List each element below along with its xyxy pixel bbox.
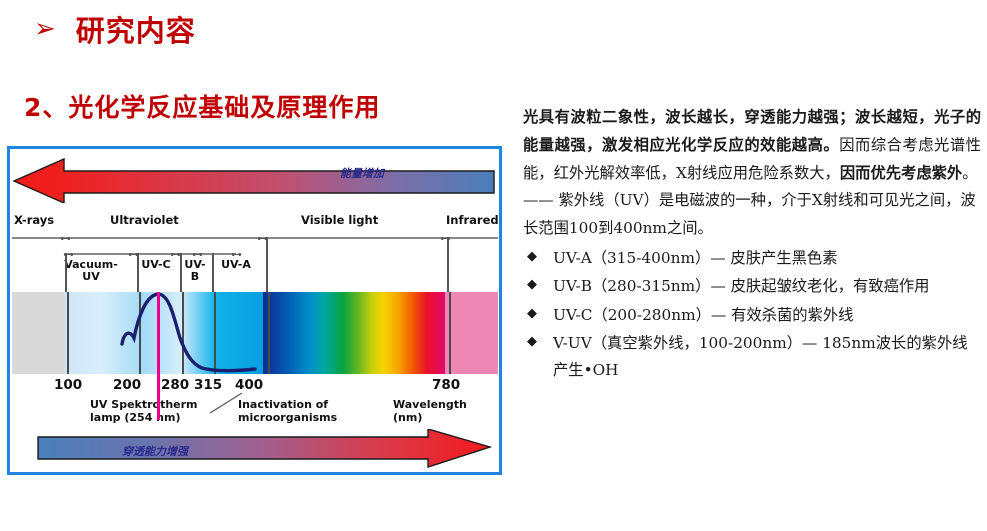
list-item-label: V-UV（真空紫外线，100-200nm）— 185nm波长的紫外线产生•OH [553,334,968,379]
subband-label-uvc: UV-C [133,259,179,271]
wavelength-200: 200 [113,377,141,393]
energy-increase-arrow-icon [12,155,496,203]
wavelength-280: 280 [161,377,189,393]
annotation-leader-line [206,393,246,415]
wavelength-780: 780 [432,377,460,393]
dash-paragraph: —— 紫外线（UV）是电磁波的一种，介于X射线和可见光之间，波长范围100到40… [523,187,981,243]
lamp-254nm-marker-line [157,292,160,420]
subband-label-uvb-line2: B [182,271,208,283]
intro-paragraph: 光具有波粒二象性，波长越长，穿透能力越强；波长越短，光子的能量越强，激发相应光化… [523,104,981,187]
subband-label-vacuum-uv: Vacuum- UV [60,259,122,282]
right-text-column: 光具有波粒二象性，波长越长，穿透能力越强；波长越短，光子的能量越强，激发相应光化… [523,104,981,385]
list-item: ◆ UV-B（280-315nm）— 皮肤起皱纹老化，有致癌作用 [523,273,981,300]
annotation-inactivation: Inactivation of microorganisms [238,399,337,424]
diamond-bullet-icon: ◆ [527,245,537,268]
penetration-increase-arrow-icon [36,429,492,469]
subband-label-vacuum-uv-line1: Vacuum- [60,259,122,271]
annotation-inactivation-line1: Inactivation of [238,399,337,412]
uv-subband-axis-line [66,253,236,255]
subheading: 2、光化学反应基础及原理作用 [24,88,380,124]
annotation-uv-lamp-line1: UV Spektrotherm [90,399,198,412]
annotation-axis-title: Wavelength (nm) [393,399,499,424]
annotation-uv-lamp-line2: lamp (254 nm) [90,412,198,425]
heading-text: 研究内容 [76,8,196,50]
list-item-label: UV-B（280-315nm）— 皮肤起皱纹老化，有致癌作用 [553,277,929,295]
wavelength-315: 315 [194,377,222,393]
list-item-label: UV-C（200-280nm）— 有效杀菌的紫外线 [553,306,853,324]
list-item: ◆ UV-C（200-280nm）— 有效杀菌的紫外线 [523,302,981,329]
annotation-uv-lamp: UV Spektrotherm lamp (254 nm) [90,399,198,424]
subband-label-uvb: UV- B [182,259,208,282]
arrow-bullet-icon: ➢ [34,16,56,42]
divider-visible-ir [447,237,449,294]
wavelength-400: 400 [235,377,263,393]
divider-uv-visible [266,237,268,294]
list-item: ◆ V-UV（真空紫外线，100-200nm）— 185nm波长的紫外线产生•O… [523,330,981,384]
diamond-bullet-icon: ◆ [527,330,537,353]
list-item-label: UV-A（315-400nm）— 皮肤产生黑色素 [553,249,838,267]
band-label-infrared: Infrared [446,213,499,227]
axis-tick-xray-uv [60,235,71,242]
diamond-bullet-icon: ◆ [527,273,537,296]
penetration-arrow-label: 穿透能力增强 [122,443,188,459]
spectrum-diagram: 能量增加 X-rays Ultraviolet Visible light In… [7,146,502,475]
axis-tick-uvb-uva [192,251,203,258]
diamond-bullet-icon: ◆ [527,302,537,325]
axis-tick-uva-end [231,251,242,258]
band-label-visible: Visible light [301,213,378,227]
annotation-inactivation-line2: microorganisms [238,412,337,425]
subband-label-uvb-line1: UV- [182,259,208,271]
band-label-xrays: X-rays [14,213,54,227]
wavelength-scale: 100 200 280 315 400 780 [10,377,499,397]
intro-bold-2: 因而优先考虑紫外 [840,164,962,182]
spectrum-color-bar [12,292,498,374]
subband-label-uva: UV-A [212,259,260,271]
energy-arrow-label: 能量增加 [340,165,384,181]
axis-tick-vis-ir [440,235,451,242]
band-label-row: X-rays Ultraviolet Visible light Infrare… [10,213,499,239]
uv-type-list: ◆ UV-A（315-400nm）— 皮肤产生黑色素 ◆ UV-B（280-31… [523,245,981,384]
intro-plain-2: 。 [962,164,977,182]
band-axis-line [12,237,498,239]
wavelength-100: 100 [54,377,82,393]
page-title: ➢ 研究内容 [34,8,196,50]
band-label-ultraviolet: Ultraviolet [110,213,179,227]
subband-label-vacuum-uv-line2: UV [60,271,122,283]
uv-lamp-emission-curve [12,292,498,374]
list-item: ◆ UV-A（315-400nm）— 皮肤产生黑色素 [523,245,981,272]
